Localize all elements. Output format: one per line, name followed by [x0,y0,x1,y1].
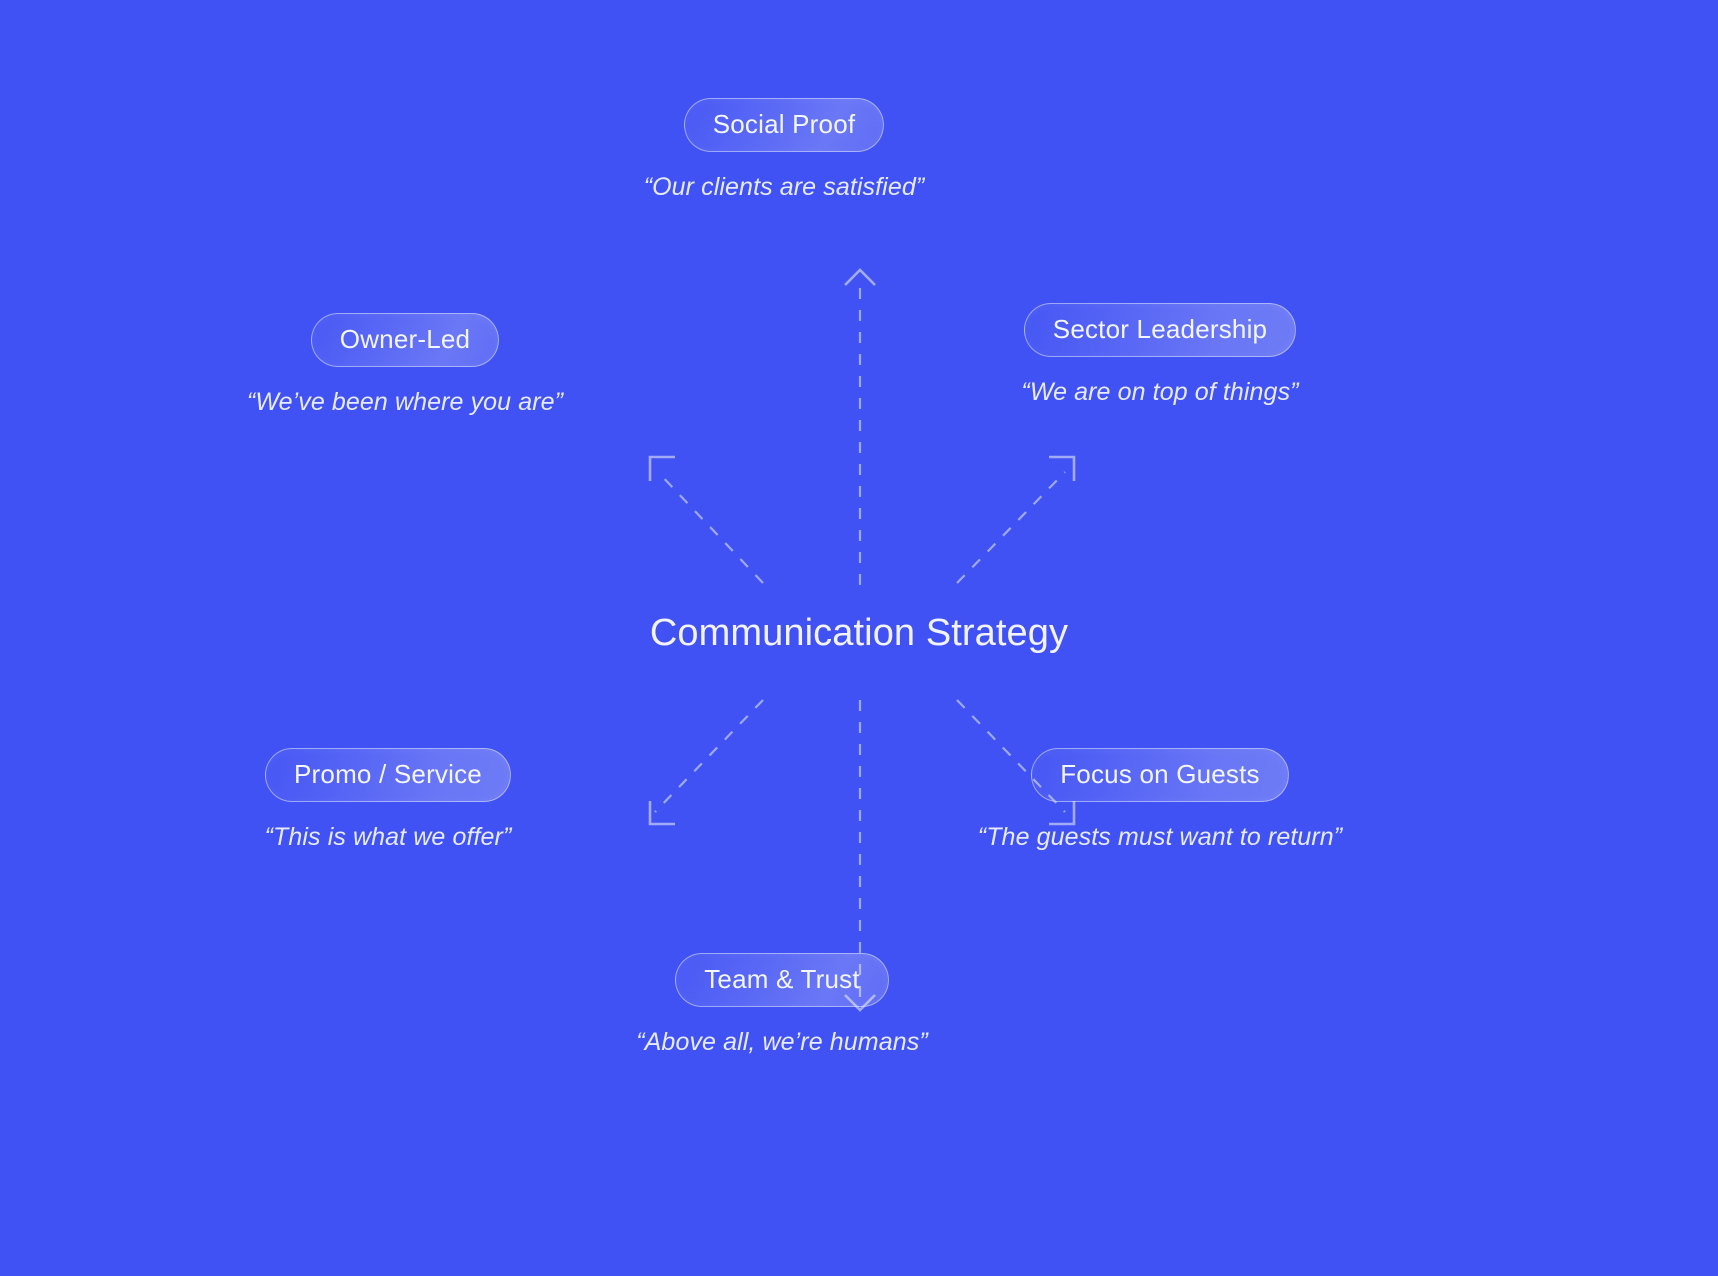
arrowhead-up-right-icon [1049,457,1074,481]
connector-center-to-sector-leadership [957,472,1065,583]
node-promo-service[interactable]: Promo / Service “This is what we offer” [163,748,613,852]
arrowhead-up-left-icon [650,457,675,481]
node-sector-leadership[interactable]: Sector Leadership “We are on top of thin… [935,303,1385,407]
node-social-proof[interactable]: Social Proof “Our clients are satisfied” [559,98,1009,202]
connector-center-to-promo-service [655,700,763,812]
node-quote-promo-service: “This is what we offer” [265,824,512,852]
center-title: Communication Strategy [0,612,1718,655]
diagram-canvas: Communication Strategy Social Proof “Our… [0,0,1718,1276]
node-label-focus-on-guests[interactable]: Focus on Guests [1031,748,1289,802]
node-focus-on-guests[interactable]: Focus on Guests “The guests must want to… [935,748,1385,852]
node-label-social-proof[interactable]: Social Proof [684,98,885,152]
arrowhead-up-icon [845,270,875,285]
node-quote-team-trust: “Above all, we’re humans” [636,1029,928,1057]
node-quote-social-proof: “Our clients are satisfied” [644,174,925,202]
node-label-team-trust[interactable]: Team & Trust [675,953,889,1007]
node-quote-owner-led: “We’ve been where you are” [247,389,563,417]
node-label-sector-leadership[interactable]: Sector Leadership [1024,303,1296,357]
arrowhead-down-left-icon [650,801,675,824]
node-label-promo-service[interactable]: Promo / Service [265,748,511,802]
node-team-trust[interactable]: Team & Trust “Above all, we’re humans” [557,953,1007,1057]
node-quote-sector-leadership: “We are on top of things” [1021,379,1298,407]
connector-center-to-owner-led [658,472,763,583]
node-owner-led[interactable]: Owner-Led “We’ve been where you are” [180,313,630,417]
node-quote-focus-on-guests: “The guests must want to return” [978,824,1342,852]
node-label-owner-led[interactable]: Owner-Led [311,313,499,367]
